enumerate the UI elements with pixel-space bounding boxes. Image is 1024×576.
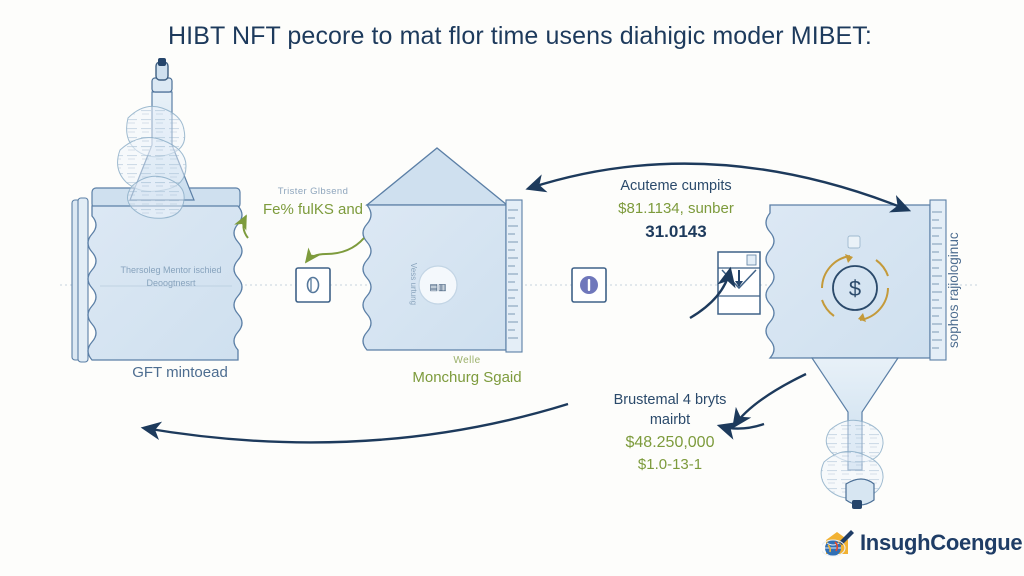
arc-bottom-left <box>144 404 568 442</box>
page-title: HIBT NFT pecore to mat flor time usens d… <box>168 22 872 51</box>
connector-label-small: Trister Glbsend <box>248 186 378 197</box>
watermark-text: InsughCoengue <box>860 530 1022 556</box>
globe-pencil-logo <box>822 528 856 558</box>
node-left-caption: GFT mintoead <box>75 364 285 381</box>
connector-label-main: Fe% fulKS and <box>248 201 378 218</box>
svg-text:$: $ <box>849 276 861 301</box>
node-middle-caption: Monchurg Sgaid <box>372 369 562 386</box>
node-middle-caption-group: Welle Monchurg Sgaid <box>372 355 562 386</box>
node-left-inner-line-2: Deoogtnesrt <box>96 277 246 290</box>
bottom-line-3: $48.250,000 <box>555 434 785 452</box>
node-middle-caption-small: Welle <box>372 355 562 366</box>
node-right[interactable]: $ <box>766 200 946 360</box>
green-connectors <box>243 216 364 262</box>
bottom-line-4: $1.0-13-1 <box>555 456 785 473</box>
inline-box-two[interactable] <box>572 268 606 302</box>
inline-box-one[interactable] <box>296 268 330 302</box>
node-middle[interactable]: ▤▥ <box>363 148 522 352</box>
top-right-line-1: Acuteme cumpits <box>566 178 786 194</box>
connector-label-group: Trister Glbsend Fe% fulKS and <box>248 186 378 218</box>
node-left-inner-line-1: Thersoleg Mentor ischied <box>96 264 246 277</box>
bottom-annotation: Brustemal 4 bryts mairbt $48.250,000 $1.… <box>555 392 785 473</box>
node-right-vertical-label: sophos rajiologinuc <box>946 232 961 348</box>
svg-text:▤▥: ▤▥ <box>429 282 446 292</box>
bottom-line-2: mairbt <box>555 412 785 428</box>
funnel-paper-icon <box>812 358 898 509</box>
middle-node-badge: ▤▥ <box>419 266 457 304</box>
top-right-line-3: 31.0143 <box>566 222 786 242</box>
diagram-canvas: ▤▥ $ <box>0 0 1024 576</box>
top-right-line-2: $81.1134, sunber <box>566 200 786 217</box>
top-right-annotation: Acuteme cumpits $81.1134, sunber 31.0143 <box>566 178 786 242</box>
node-left-inner-text: Thersoleg Mentor ischied Deoogtnesrt <box>96 264 246 290</box>
watermark: InsughCoengue <box>822 528 1022 558</box>
flask-paper-icon <box>118 58 194 218</box>
bottom-line-1: Brustemal 4 bryts <box>555 392 785 408</box>
node-middle-inner-vertical: Vess urtung <box>409 236 418 332</box>
